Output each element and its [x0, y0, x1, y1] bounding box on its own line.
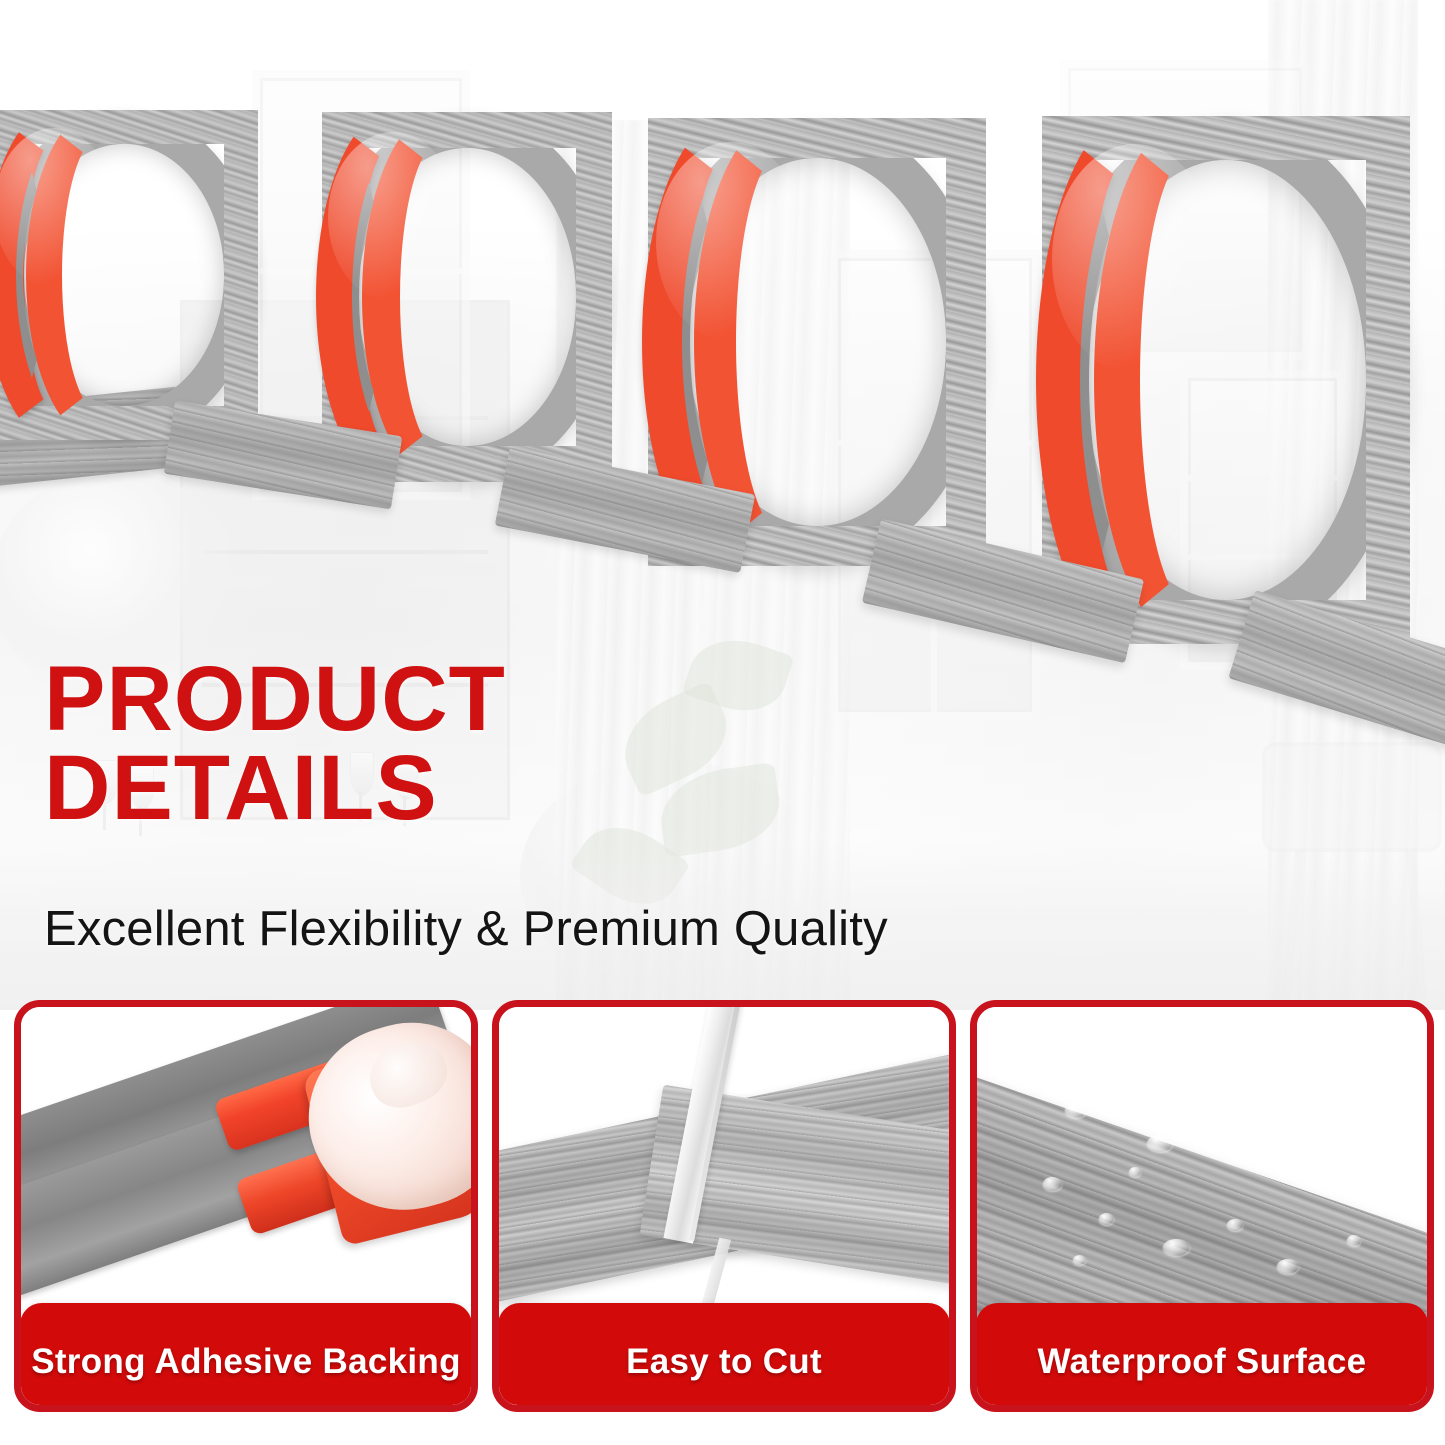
water-droplet	[1209, 1109, 1225, 1121]
coil-loop-1	[0, 110, 258, 440]
title-line-1: PRODUCT	[44, 655, 924, 744]
page-title: PRODUCT DETAILS	[44, 655, 924, 833]
coil-loop-2-edge	[352, 110, 512, 484]
title-line-2: DETAILS	[44, 744, 924, 833]
feature-panels: Strong Adhesive Backing Easy to Cut	[0, 1000, 1445, 1445]
coil-loop-4	[1042, 116, 1410, 644]
product-detail-image: PRODUCT DETAILS Excellent Flexibility & …	[0, 0, 1445, 1445]
feature-panel-cut[interactable]: Easy to Cut	[492, 1000, 956, 1412]
water-droplet	[1245, 1155, 1266, 1169]
feature-panel-adhesive[interactable]: Strong Adhesive Backing	[14, 1000, 478, 1412]
water-droplet	[1259, 1091, 1272, 1101]
water-droplet	[1065, 1103, 1087, 1118]
feature-banner-cut: Easy to Cut	[498, 1303, 950, 1412]
page-subtitle: Excellent Flexibility & Premium Quality	[44, 905, 888, 954]
water-droplet	[1099, 1213, 1114, 1225]
coil-loop-1-edge	[16, 108, 166, 442]
coil-loop-4-edge	[1080, 114, 1276, 646]
water-droplet	[1117, 1085, 1131, 1096]
water-droplet	[1317, 1069, 1332, 1080]
feature-banner-adhesive: Strong Adhesive Backing	[20, 1303, 472, 1412]
water-droplet	[1277, 1259, 1299, 1274]
coil-loop-2	[322, 112, 612, 482]
water-droplet	[1129, 1167, 1141, 1177]
water-droplet	[1329, 1183, 1353, 1199]
water-droplet	[1021, 1075, 1038, 1088]
water-droplet	[1043, 1177, 1062, 1191]
feature-banner-waterproof: Waterproof Surface	[976, 1303, 1428, 1412]
water-droplet	[1347, 1235, 1361, 1246]
water-droplet	[1163, 1239, 1190, 1256]
feature-panel-waterproof[interactable]: Waterproof Surface	[970, 1000, 1434, 1412]
feature-label-waterproof: Waterproof Surface	[1038, 1342, 1367, 1382]
water-droplet	[1147, 1135, 1173, 1152]
water-droplet	[1073, 1255, 1086, 1265]
water-droplet	[1227, 1219, 1243, 1231]
water-droplet	[1293, 1127, 1308, 1139]
feature-label-cut: Easy to Cut	[626, 1342, 822, 1382]
water-droplet	[1381, 1179, 1400, 1192]
water-droplet	[1375, 1135, 1387, 1145]
feature-label-adhesive: Strong Adhesive Backing	[31, 1342, 461, 1382]
coil-tail-right	[1228, 590, 1445, 754]
